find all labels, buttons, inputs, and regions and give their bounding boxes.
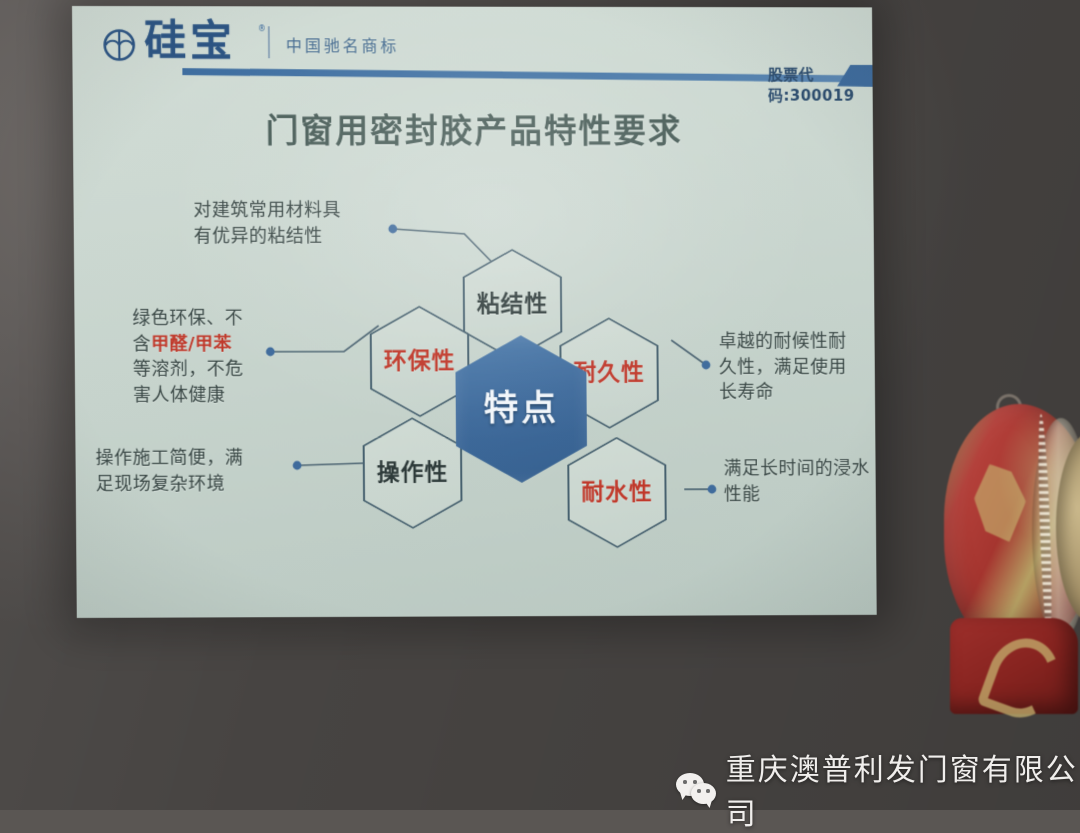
hex-label-adhesion: 粘结性 — [477, 292, 549, 316]
note-water: 满足长时间的浸水 性能 — [724, 456, 877, 507]
note-adhesion: 对建筑常用材料具 有优异的粘结性 — [193, 198, 383, 249]
hex-label-center: 特点 — [483, 391, 559, 428]
hex-label-water: 耐水性 — [581, 480, 652, 504]
hex-label-eco: 环保性 — [384, 349, 456, 373]
connector-dot-durability — [702, 361, 711, 370]
projected-slide: 硅宝 ® 中国驰名商标 股票代码:300019 门窗用密封胶产品特性要求 — [72, 6, 877, 618]
note-durability: 卓越的耐候性耐 久性，满足使用 长寿命 — [719, 329, 877, 405]
note-eco: 绿色环保、不 含甲醛/甲苯 等溶剂，不危 害人体健康 — [132, 306, 292, 408]
watermark-company-name: 重庆澳普利发门窗有限公司 — [726, 745, 1080, 833]
note-eco-highlight: 甲醛/甲苯 — [151, 333, 232, 354]
wechat-watermark: 重庆澳普利发门窗有限公司 — [676, 745, 1080, 833]
wechat-icon — [676, 773, 715, 805]
connector-dot-adhesion — [388, 225, 397, 234]
hex-label-operation: 操作性 — [377, 461, 449, 485]
traditional-chinese-drum — [944, 404, 1080, 704]
hexagon-diagram: 粘结性 环保性 耐久性 操作性 耐水性 — [72, 6, 877, 618]
connector-dot-water — [708, 485, 717, 494]
note-eco-line-highlight: 含甲醛/甲苯 — [133, 331, 293, 357]
note-operation: 操作施工简便，满 足现场复杂环境 — [95, 445, 295, 497]
